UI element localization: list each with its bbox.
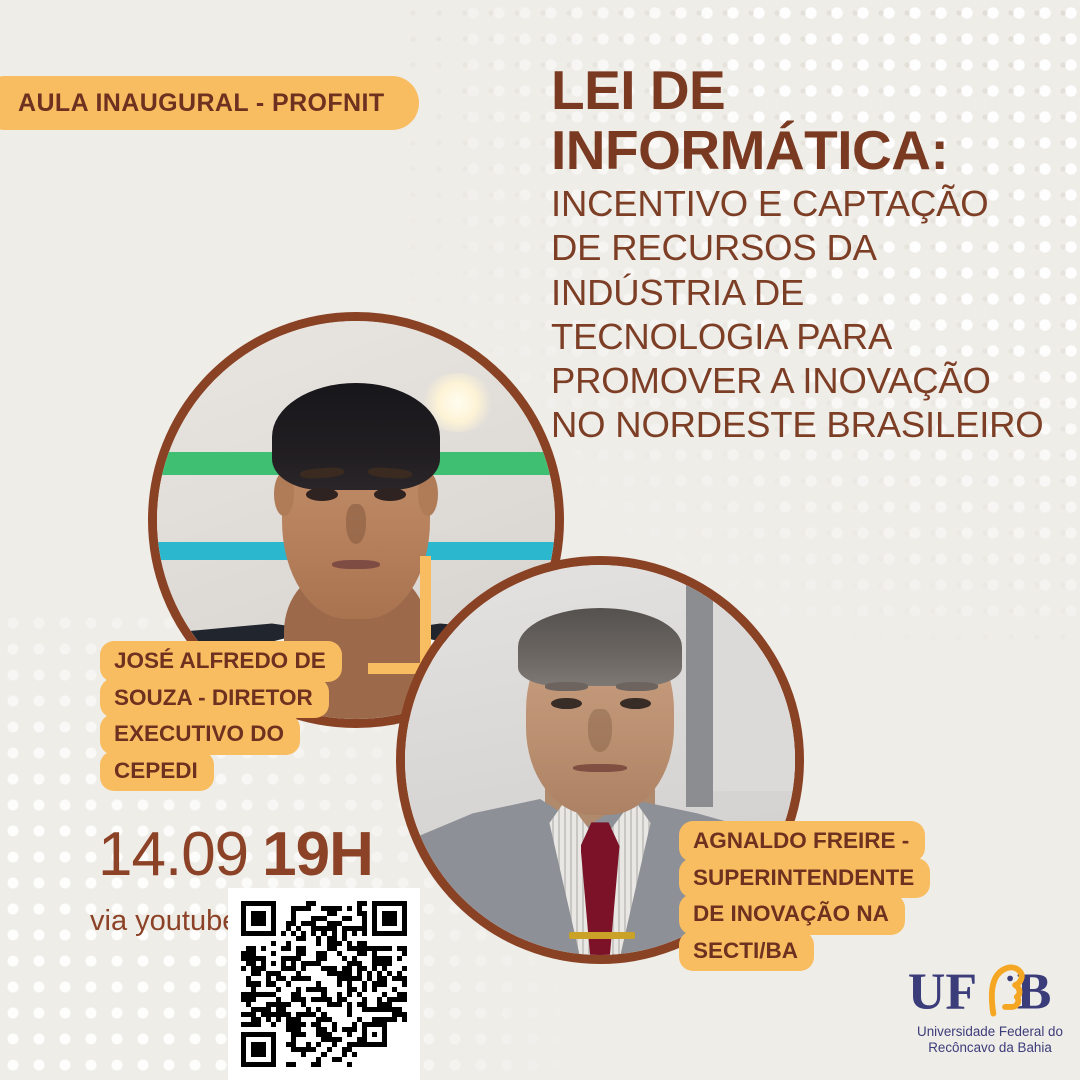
- speaker-2-name-line: SECTI/BA: [679, 931, 814, 972]
- subtitle-block: INCENTIVO E CAPTAÇÃO DE RECURSOS DA INDÚ…: [551, 182, 1021, 447]
- subtitle-line: INCENTIVO E CAPTAÇÃO: [551, 182, 1021, 226]
- speaker-2-name-line: DE INOVAÇÃO NA: [679, 894, 905, 935]
- ufrb-subtitle-line-1: Universidade Federal do: [905, 1024, 1075, 1040]
- subtitle-line: NO NORDESTE BRASILEIRO: [551, 403, 1021, 447]
- title-line-2: INFORMÁTICA:: [551, 122, 1021, 178]
- speaker-1-name-line: EXECUTIVO DO: [100, 714, 300, 755]
- speaker-2-name-line: SUPERINTENDENTE: [679, 858, 930, 899]
- speaker-1-name-line: SOUZA - DIRETOR: [100, 678, 329, 719]
- ufrb-logo-mark: UF B: [905, 960, 1075, 1022]
- event-type-badge-label: AULA INAUGURAL - PROFNIT: [18, 89, 385, 118]
- poster-canvas: AULA INAUGURAL - PROFNIT LEI DE INFORMÁT…: [0, 0, 1080, 1080]
- event-date: 14.09: [98, 824, 248, 886]
- title-line-1: LEI DE: [551, 62, 1021, 118]
- event-datetime: 14.09 19H: [98, 824, 373, 886]
- headline-block: LEI DE INFORMÁTICA: INCENTIVO E CAPTAÇÃO…: [551, 62, 1021, 447]
- speaker-1-name-line: CEPEDI: [100, 751, 214, 792]
- qr-code-container[interactable]: [228, 888, 420, 1080]
- ufrb-logo-subtitle: Universidade Federal do Recôncavo da Bah…: [905, 1024, 1075, 1057]
- speaker-2-name-line: AGNALDO FREIRE -: [679, 821, 925, 862]
- speaker-2-name-label: AGNALDO FREIRE - SUPERINTENDENTE DE INOV…: [679, 821, 930, 971]
- event-type-badge: AULA INAUGURAL - PROFNIT: [0, 76, 419, 130]
- speaker-1-name-label: JOSÉ ALFREDO DE SOUZA - DIRETOR EXECUTIV…: [100, 641, 342, 791]
- ufrb-acronym-icon: UF B: [905, 960, 1075, 1022]
- streaming-channel-label: via youtube:: [90, 905, 246, 938]
- subtitle-line: TECNOLOGIA PARA: [551, 315, 1021, 359]
- svg-text:UF: UF: [908, 964, 977, 1021]
- speaker-1-name-line: JOSÉ ALFREDO DE: [100, 641, 342, 682]
- ufrb-face-eye-icon: [1007, 976, 1013, 982]
- event-time: 19H: [262, 824, 373, 886]
- ufrb-logo: UF B Universidade Federal do Recôncavo d…: [905, 960, 1075, 1057]
- subtitle-line: INDÚSTRIA DE: [551, 271, 1021, 315]
- ufrb-subtitle-line-2: Recôncavo da Bahia: [905, 1040, 1075, 1056]
- subtitle-line: DE RECURSOS DA: [551, 226, 1021, 270]
- qr-code-icon[interactable]: [241, 901, 407, 1067]
- subtitle-line: PROMOVER A INOVAÇÃO: [551, 359, 1021, 403]
